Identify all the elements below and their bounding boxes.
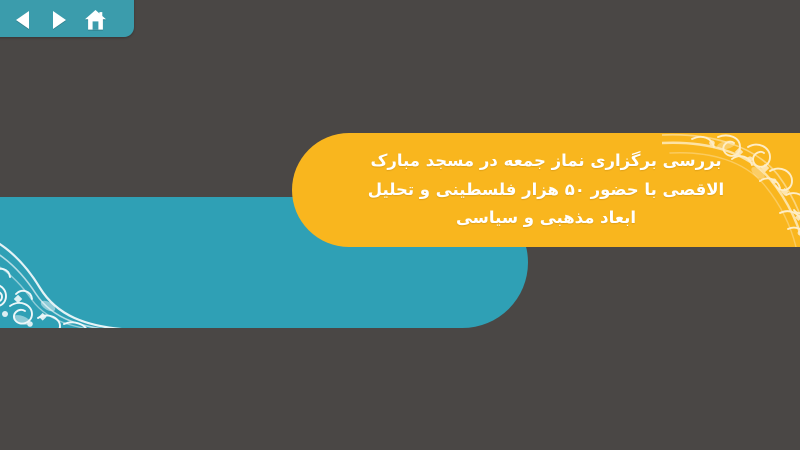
- navigation-button-group: [0, 9, 106, 31]
- page-title: بررسی برگزاری نماز جمعه در مسجد مبارک ال…: [334, 147, 770, 232]
- home-button[interactable]: [84, 9, 106, 31]
- title-line: ابعاد مذهبی و سیاسی: [368, 204, 724, 232]
- triangle-right-icon: [50, 10, 68, 30]
- arabesque-ornament-icon: [0, 202, 160, 328]
- home-icon: [84, 9, 107, 31]
- title-banner: بررسی برگزاری نماز جمعه در مسجد مبارک ال…: [292, 133, 800, 247]
- next-button[interactable]: [48, 9, 70, 31]
- previous-button[interactable]: [12, 9, 34, 31]
- title-line: بررسی برگزاری نماز جمعه در مسجد مبارک: [368, 147, 724, 175]
- navigation-toolbar: [0, 0, 134, 37]
- title-line: الاقصی با حضور ۵۰ هزار فلسطینی و تحلیل: [368, 176, 724, 204]
- triangle-left-icon: [14, 10, 32, 30]
- slide-canvas: بررسی برگزاری نماز جمعه در مسجد مبارک ال…: [0, 0, 800, 450]
